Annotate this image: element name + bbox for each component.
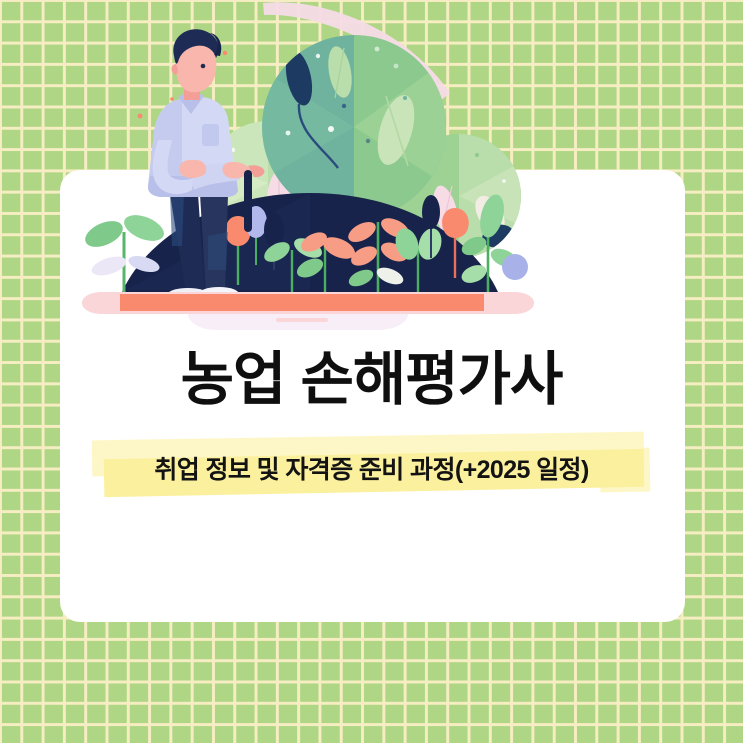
subtitle-block: 취업 정보 및 자격증 준비 과정(+2025 일정) [0,434,743,504]
base-platform [82,292,534,330]
poster-canvas: 농업 손해평가사 취업 정보 및 자격증 준비 과정(+2025 일정) [0,0,743,743]
page-subtitle: 취업 정보 및 자격증 준비 과정(+2025 일정) [0,450,743,486]
page-title: 농업 손해평가사 [0,348,743,412]
seedling-circle [502,254,528,280]
illustration-svg [78,0,578,345]
hero-illustration [78,0,578,345]
